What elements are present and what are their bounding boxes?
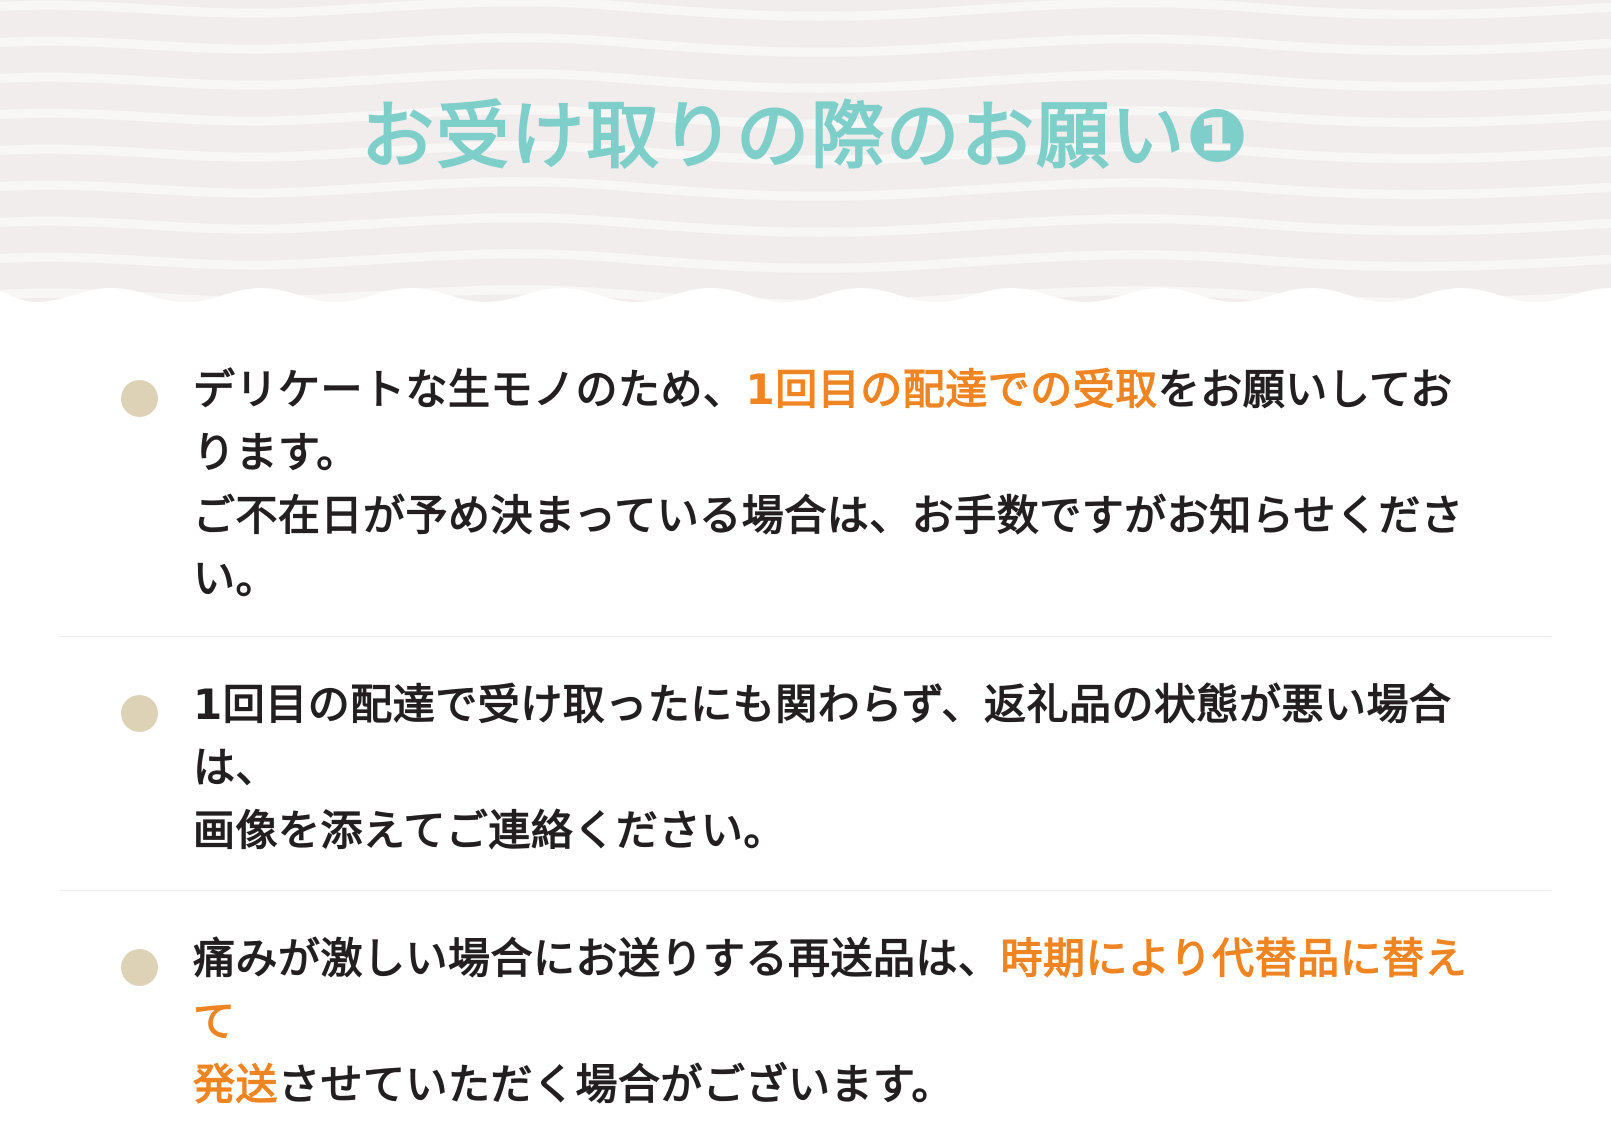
list-item-2-text: 1回目の配達で受け取ったにも関わらず、返礼品の状態が悪い場合は、 画像を添えてご… (193, 673, 1476, 862)
item3-highlight-b: 発送 (193, 1060, 278, 1109)
item3-plain-tail: させていただく場合がございます。 (278, 1060, 954, 1109)
item1-line2: ご不在日が予め決まっている場合は、お手数ですがお知らせください。 (193, 491, 1463, 603)
list-item-2: 1回目の配達で受け取ったにも関わらず、返礼品の状態が悪い場合は、 画像を添えてご… (0, 637, 1611, 890)
bullet-dot-icon (121, 380, 158, 417)
list-item-3-text: 痛みが激しい場合にお送りする再送品は、時期により代替品に替えて発送させていただく… (193, 927, 1476, 1116)
item2-line1: 1回目の配達で受け取ったにも関わらず、返礼品の状態が悪い場合は、 (193, 680, 1451, 792)
list-item-3: 痛みが激しい場合にお送りする再送品は、時期により代替品に替えて発送させていただく… (0, 891, 1611, 1142)
list-item-1: デリケートな生モノのため、1回目の配達での受取をお願いしております。 ご不在日が… (0, 330, 1611, 636)
item3-plain-lead: 痛みが激しい場合にお送りする再送品は、 (193, 934, 1001, 983)
item1-highlight: 1回目の配達での受取 (746, 365, 1158, 414)
list-item-1-text: デリケートな生モノのため、1回目の配達での受取をお願いしております。 ご不在日が… (193, 358, 1476, 610)
bullet-dot-icon (121, 695, 158, 732)
bullet-dot-icon (121, 949, 158, 986)
item2-line2: 画像を添えてご連絡ください。 (193, 806, 786, 855)
item1-plain-lead: デリケートな生モノのため、 (193, 365, 746, 414)
page-title: お受け取りの際のお願い❶ (0, 96, 1611, 178)
notice-list: デリケートな生モノのため、1回目の配達での受取をお願いしております。 ご不在日が… (0, 330, 1611, 1142)
header-band: お受け取りの際のお願い❶ (0, 0, 1611, 312)
